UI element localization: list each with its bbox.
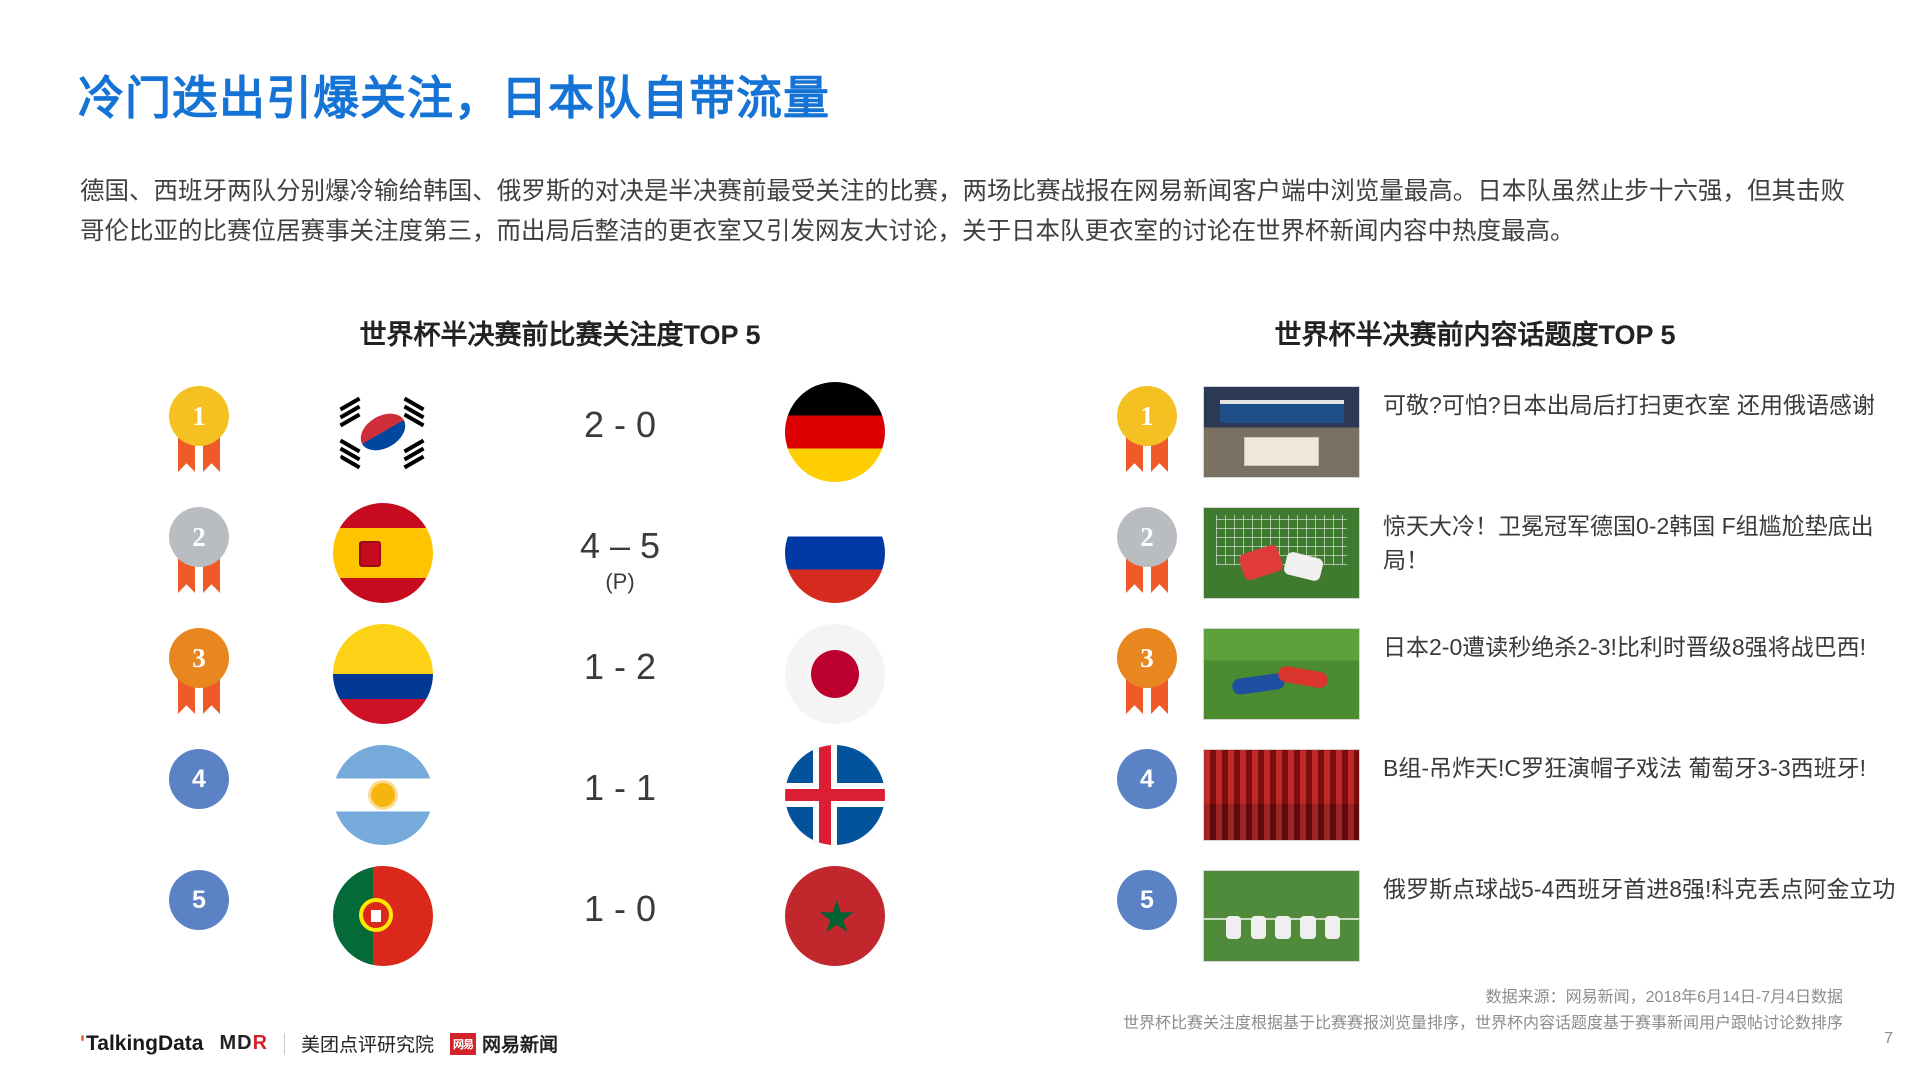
morocco-flag: ★ xyxy=(785,866,885,966)
topic-headline: B组-吊炸天!C罗狂演帽子戏法 葡萄牙3-3西班牙! xyxy=(1383,751,1903,785)
page-title: 冷门迭出引爆关注，日本队自带流量 xyxy=(78,62,830,128)
germany-flag xyxy=(785,382,885,482)
argentina-flag xyxy=(333,745,433,845)
footer-logos: ' TalkingData MDR 美团点评研究院 网易 网易新闻 xyxy=(80,1030,558,1057)
match-score: 4 – 5 (P) xyxy=(470,525,770,595)
divider xyxy=(284,1033,285,1055)
meituan-research-label: 美团点评研究院 xyxy=(301,1030,434,1057)
netease-label: 网易新闻 xyxy=(482,1030,558,1057)
list-item: 2 惊天大冷！卫冕冠军德国0-2韩国 F组尴尬垫底出局！ xyxy=(1100,499,1900,620)
page-number: 7 xyxy=(1884,1030,1893,1048)
netease-logo: 网易 网易新闻 xyxy=(450,1030,558,1057)
match-score: 1 - 0 xyxy=(470,888,770,930)
list-item: 3 日本2-0遭读秒绝杀2-3!比利时晋级8强将战巴西! xyxy=(1100,620,1900,741)
mdr-label-m: MD xyxy=(219,1032,252,1054)
slide: 冷门迭出引爆关注，日本队自带流量 德国、西班牙两队分别爆冷输给韩国、俄罗斯的对决… xyxy=(0,0,1921,1080)
table-row: 5 1 - 0 ★ xyxy=(130,862,990,983)
score-value: 1 - 0 xyxy=(584,888,656,929)
iceland-flag xyxy=(785,745,885,845)
rank-number: 3 xyxy=(169,628,229,688)
mdr-label-r: R xyxy=(253,1032,268,1054)
rank-badge-2: 2 xyxy=(162,507,236,599)
rank-badge-4: 4 xyxy=(162,749,236,841)
talkingdata-label: TalkingData xyxy=(86,1032,203,1056)
list-item: 4 B组-吊炸天!C罗狂演帽子戏法 葡萄牙3-3西班牙! xyxy=(1100,741,1900,862)
score-value: 1 - 2 xyxy=(584,646,656,687)
table-row: 3 1 - 2 xyxy=(130,620,990,741)
rank-badge-3: 3 xyxy=(162,628,236,720)
rank-badge-3: 3 xyxy=(1110,628,1184,720)
russia-flag xyxy=(785,503,885,603)
source-line-1: 数据来源：网易新闻，2018年6月14日-7月4日数据 xyxy=(543,985,1843,1011)
crowd-thumb xyxy=(1203,749,1360,841)
goal-save-thumb xyxy=(1203,507,1360,599)
intro-paragraph: 德国、西班牙两队分别爆冷输给韩国、俄罗斯的对决是半决赛前最受关注的比赛，两场比赛… xyxy=(80,172,1845,252)
colombia-flag xyxy=(333,624,433,724)
source-line-2: 世界杯比赛关注度根据基于比赛赛报浏览量排序，世界杯内容话题度基于赛事新闻用户跟帖… xyxy=(543,1011,1843,1037)
match-score: 1 - 1 xyxy=(470,767,770,809)
rank-badge-5: 5 xyxy=(1110,870,1184,962)
rank-number: 3 xyxy=(1117,628,1177,688)
mdr-logo: MDR xyxy=(219,1032,268,1055)
netease-badge-icon: 网易 xyxy=(450,1033,476,1055)
spain-flag xyxy=(333,503,433,603)
rank-number: 5 xyxy=(169,870,229,930)
score-value: 2 - 0 xyxy=(584,404,656,445)
rank-number: 2 xyxy=(1117,507,1177,567)
table-row: 1 2 - 0 xyxy=(130,378,990,499)
rank-number: 5 xyxy=(1117,870,1177,930)
rank-badge-1: 1 xyxy=(162,386,236,478)
rank-number: 2 xyxy=(169,507,229,567)
topic-list: 1 可敬?可怕?日本出局后打扫更衣室 还用俄语感谢 2 惊天大冷！卫冕冠军德国0… xyxy=(1100,378,1900,983)
rank-number: 1 xyxy=(1117,386,1177,446)
portugal-flag xyxy=(333,866,433,966)
topic-headline: 日本2-0遭读秒绝杀2-3!比利时晋级8强将战巴西! xyxy=(1383,630,1903,664)
source-note: 数据来源：网易新闻，2018年6月14日-7月4日数据 世界杯比赛关注度根据基于… xyxy=(543,985,1843,1037)
rank-number: 4 xyxy=(1117,749,1177,809)
rank-number: 1 xyxy=(169,386,229,446)
list-item: 1 可敬?可怕?日本出局后打扫更衣室 还用俄语感谢 xyxy=(1100,378,1900,499)
locker-room-thumb xyxy=(1203,386,1360,478)
topic-headline: 俄罗斯点球战5-4西班牙首进8强!科克丢点阿金立功 xyxy=(1383,872,1903,906)
score-value: 4 – 5 xyxy=(580,525,660,566)
talkingdata-mark-icon: ' xyxy=(80,1032,85,1056)
topic-headline: 惊天大冷！卫冕冠军德国0-2韩国 F组尴尬垫底出局！ xyxy=(1383,509,1903,577)
korea-flag xyxy=(333,382,433,482)
section-title-matches: 世界杯半决赛前比赛关注度TOP 5 xyxy=(140,313,980,352)
topic-headline: 可敬?可怕?日本出局后打扫更衣室 还用俄语感谢 xyxy=(1383,388,1903,422)
pitch-players-thumb xyxy=(1203,628,1360,720)
match-list: 1 2 - 0 2 xyxy=(130,378,990,983)
celebration-thumb xyxy=(1203,870,1360,962)
rank-badge-1: 1 xyxy=(1110,386,1184,478)
rank-badge-2: 2 xyxy=(1110,507,1184,599)
match-score: 2 - 0 xyxy=(470,404,770,446)
match-score: 1 - 2 xyxy=(470,646,770,688)
rank-badge-4: 4 xyxy=(1110,749,1184,841)
talkingdata-logo: ' TalkingData xyxy=(80,1032,203,1056)
score-value: 1 - 1 xyxy=(584,767,656,808)
rank-number: 4 xyxy=(169,749,229,809)
section-title-topics: 世界杯半决赛前内容话题度TOP 5 xyxy=(1060,313,1890,352)
table-row: 4 1 - 1 xyxy=(130,741,990,862)
table-row: 2 4 – 5 (P) xyxy=(130,499,990,620)
japan-flag xyxy=(785,624,885,724)
list-item: 5 俄罗斯点球战5-4西班牙首进8强!科克丢点阿金立功 xyxy=(1100,862,1900,983)
rank-badge-5: 5 xyxy=(162,870,236,962)
score-note: (P) xyxy=(470,569,770,595)
